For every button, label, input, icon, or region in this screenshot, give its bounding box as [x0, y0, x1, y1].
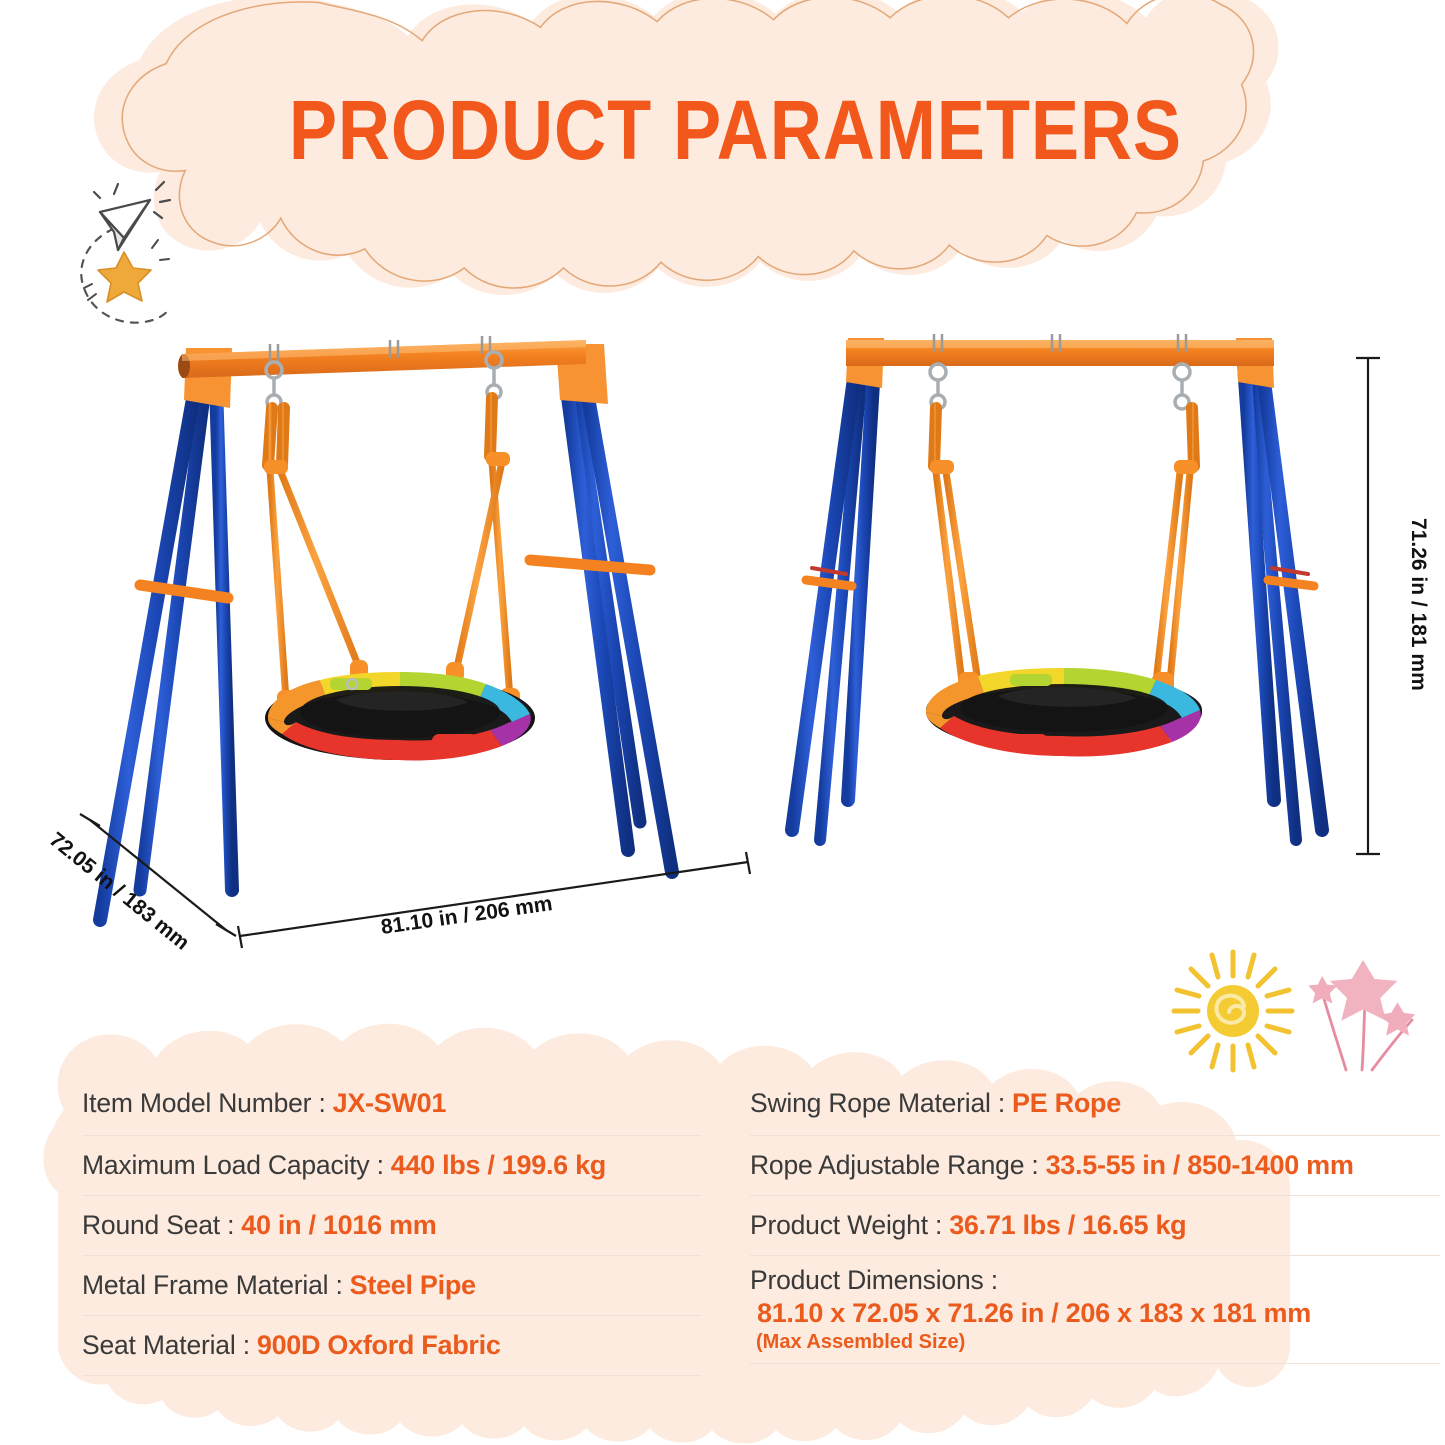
- angled-top-beam: [178, 340, 586, 378]
- spec-label: Product Weight :: [750, 1210, 942, 1241]
- front-legs: [792, 364, 1322, 830]
- spec-table: Item Model Number : JX-SW01 Maximum Load…: [0, 1014, 1445, 1445]
- spec-row-rope-adjustable-range: Rope Adjustable Range : 33.5-55 in / 850…: [750, 1136, 1440, 1196]
- dimension-label-texts: 72.05 in / 183 mm 81.10 in / 206 mm 71.2…: [45, 518, 1430, 955]
- spec-value: PE Rope: [1012, 1088, 1121, 1119]
- width-dimension-label: 81.10 in / 206 mm: [379, 892, 553, 939]
- angled-swing-ropes: [264, 398, 520, 712]
- spec-label: Product Dimensions :: [750, 1265, 998, 1296]
- spec-value: 440 lbs / 199.6 kg: [391, 1150, 606, 1181]
- spec-label: Swing Rope Material :: [750, 1088, 1005, 1119]
- spec-label: Metal Frame Material :: [82, 1270, 343, 1301]
- spec-label: Item Model Number :: [82, 1088, 326, 1119]
- spec-value: JX-SW01: [333, 1088, 446, 1119]
- front-cross-braces: [806, 568, 1314, 586]
- spec-row-round-seat: Round Seat : 40 in / 1016 mm: [82, 1196, 702, 1256]
- star-doodle: [84, 240, 169, 302]
- angled-saucer-seat: [265, 672, 535, 760]
- spec-label: Rope Adjustable Range :: [750, 1150, 1039, 1181]
- spec-row-swing-rope-material: Swing Rope Material : PE Rope: [750, 1076, 1440, 1136]
- spec-value: 900D Oxford Fabric: [257, 1330, 501, 1361]
- spec-label: Maximum Load Capacity :: [82, 1150, 384, 1181]
- front-swing-ropes: [930, 408, 1198, 696]
- product-illustration-svg: 72.05 in / 183 mm 81.10 in / 206 mm 71.2…: [0, 330, 1445, 980]
- height-dimension-line: [1356, 358, 1380, 854]
- swing-set-angled-view: [100, 336, 672, 920]
- spec-row-maximum-load-capacity: Maximum Load Capacity : 440 lbs / 199.6 …: [82, 1136, 702, 1196]
- spec-note: (Max Assembled Size): [756, 1331, 965, 1354]
- spec-column-right: Swing Rope Material : PE Rope Rope Adjus…: [750, 1076, 1440, 1445]
- spec-column-left: Item Model Number : JX-SW01 Maximum Load…: [82, 1076, 702, 1445]
- front-rear-legs: [820, 370, 1296, 840]
- spec-value: 81.10 x 72.05 x 71.26 in / 206 x 183 x 1…: [757, 1296, 1311, 1331]
- spec-value: 33.5-55 in / 850-1400 mm: [1046, 1150, 1354, 1181]
- spec-value: 36.71 lbs / 16.65 kg: [949, 1210, 1186, 1241]
- spec-row-product-weight: Product Weight : 36.71 lbs / 16.65 kg: [750, 1196, 1440, 1256]
- spec-label: Seat Material :: [82, 1330, 250, 1361]
- spec-row-metal-frame-material: Metal Frame Material : Steel Pipe: [82, 1256, 702, 1316]
- spec-value: 40 in / 1016 mm: [241, 1210, 436, 1241]
- spec-row-item-model-number: Item Model Number : JX-SW01: [82, 1076, 702, 1136]
- spec-row-product-dimensions: Product Dimensions : 81.10 x 72.05 x 71.…: [750, 1256, 1440, 1364]
- spec-value: Steel Pipe: [350, 1270, 476, 1301]
- page-title: PRODUCT PARAMETERS: [101, 88, 1344, 172]
- swing-set-front-view: [792, 334, 1322, 840]
- front-carabiners: [930, 364, 1190, 409]
- height-dimension-label: 71.26 in / 181 mm: [1407, 518, 1430, 691]
- spec-row-seat-material: Seat Material : 900D Oxford Fabric: [82, 1316, 702, 1376]
- paper-plane-doodle: [66, 176, 206, 336]
- swing-set-product-illustration: 72.05 in / 183 mm 81.10 in / 206 mm 71.2…: [0, 330, 1445, 980]
- spec-label: Round Seat :: [82, 1210, 234, 1241]
